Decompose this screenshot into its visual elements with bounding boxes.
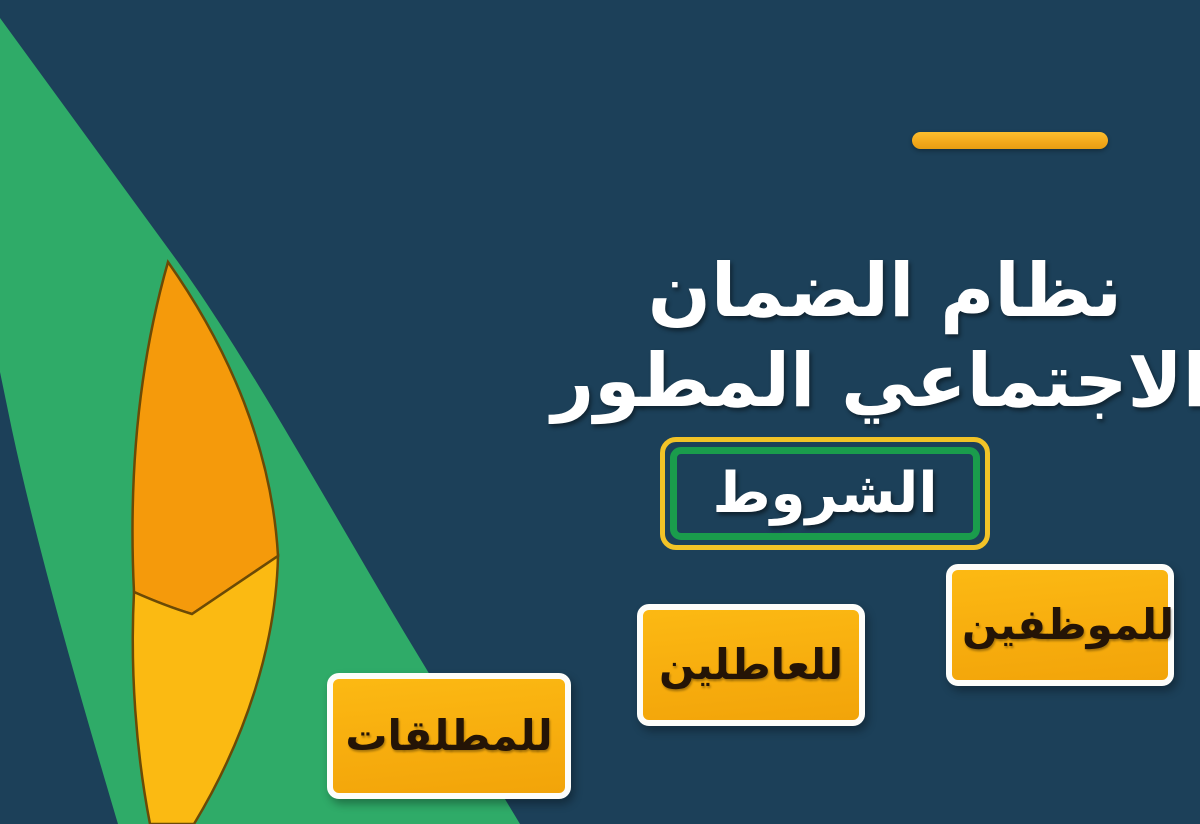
poster-canvas: نظام الضمان الاجتماعي المطور الشروط للمو… bbox=[0, 0, 1200, 824]
badge-unemployed[interactable]: للعاطلين bbox=[637, 604, 865, 726]
page-title-line-2: الاجتماعي المطور bbox=[362, 336, 1200, 426]
badge-divorced-label: للمطلقات bbox=[345, 715, 552, 757]
badge-divorced[interactable]: للمطلقات bbox=[327, 673, 571, 799]
gold-accent-bar bbox=[912, 132, 1108, 149]
page-title: نظام الضمان الاجتماعي المطور bbox=[362, 246, 1122, 427]
badge-employees[interactable]: للموظفين bbox=[946, 564, 1174, 686]
conditions-callout-inner: الشروط bbox=[670, 447, 980, 540]
badge-unemployed-label: للعاطلين bbox=[659, 644, 843, 686]
page-title-line-1: نظام الضمان bbox=[362, 246, 1122, 336]
conditions-label: الشروط bbox=[713, 466, 938, 522]
badge-employees-label: للموظفين bbox=[962, 604, 1174, 646]
conditions-callout[interactable]: الشروط bbox=[660, 437, 990, 550]
